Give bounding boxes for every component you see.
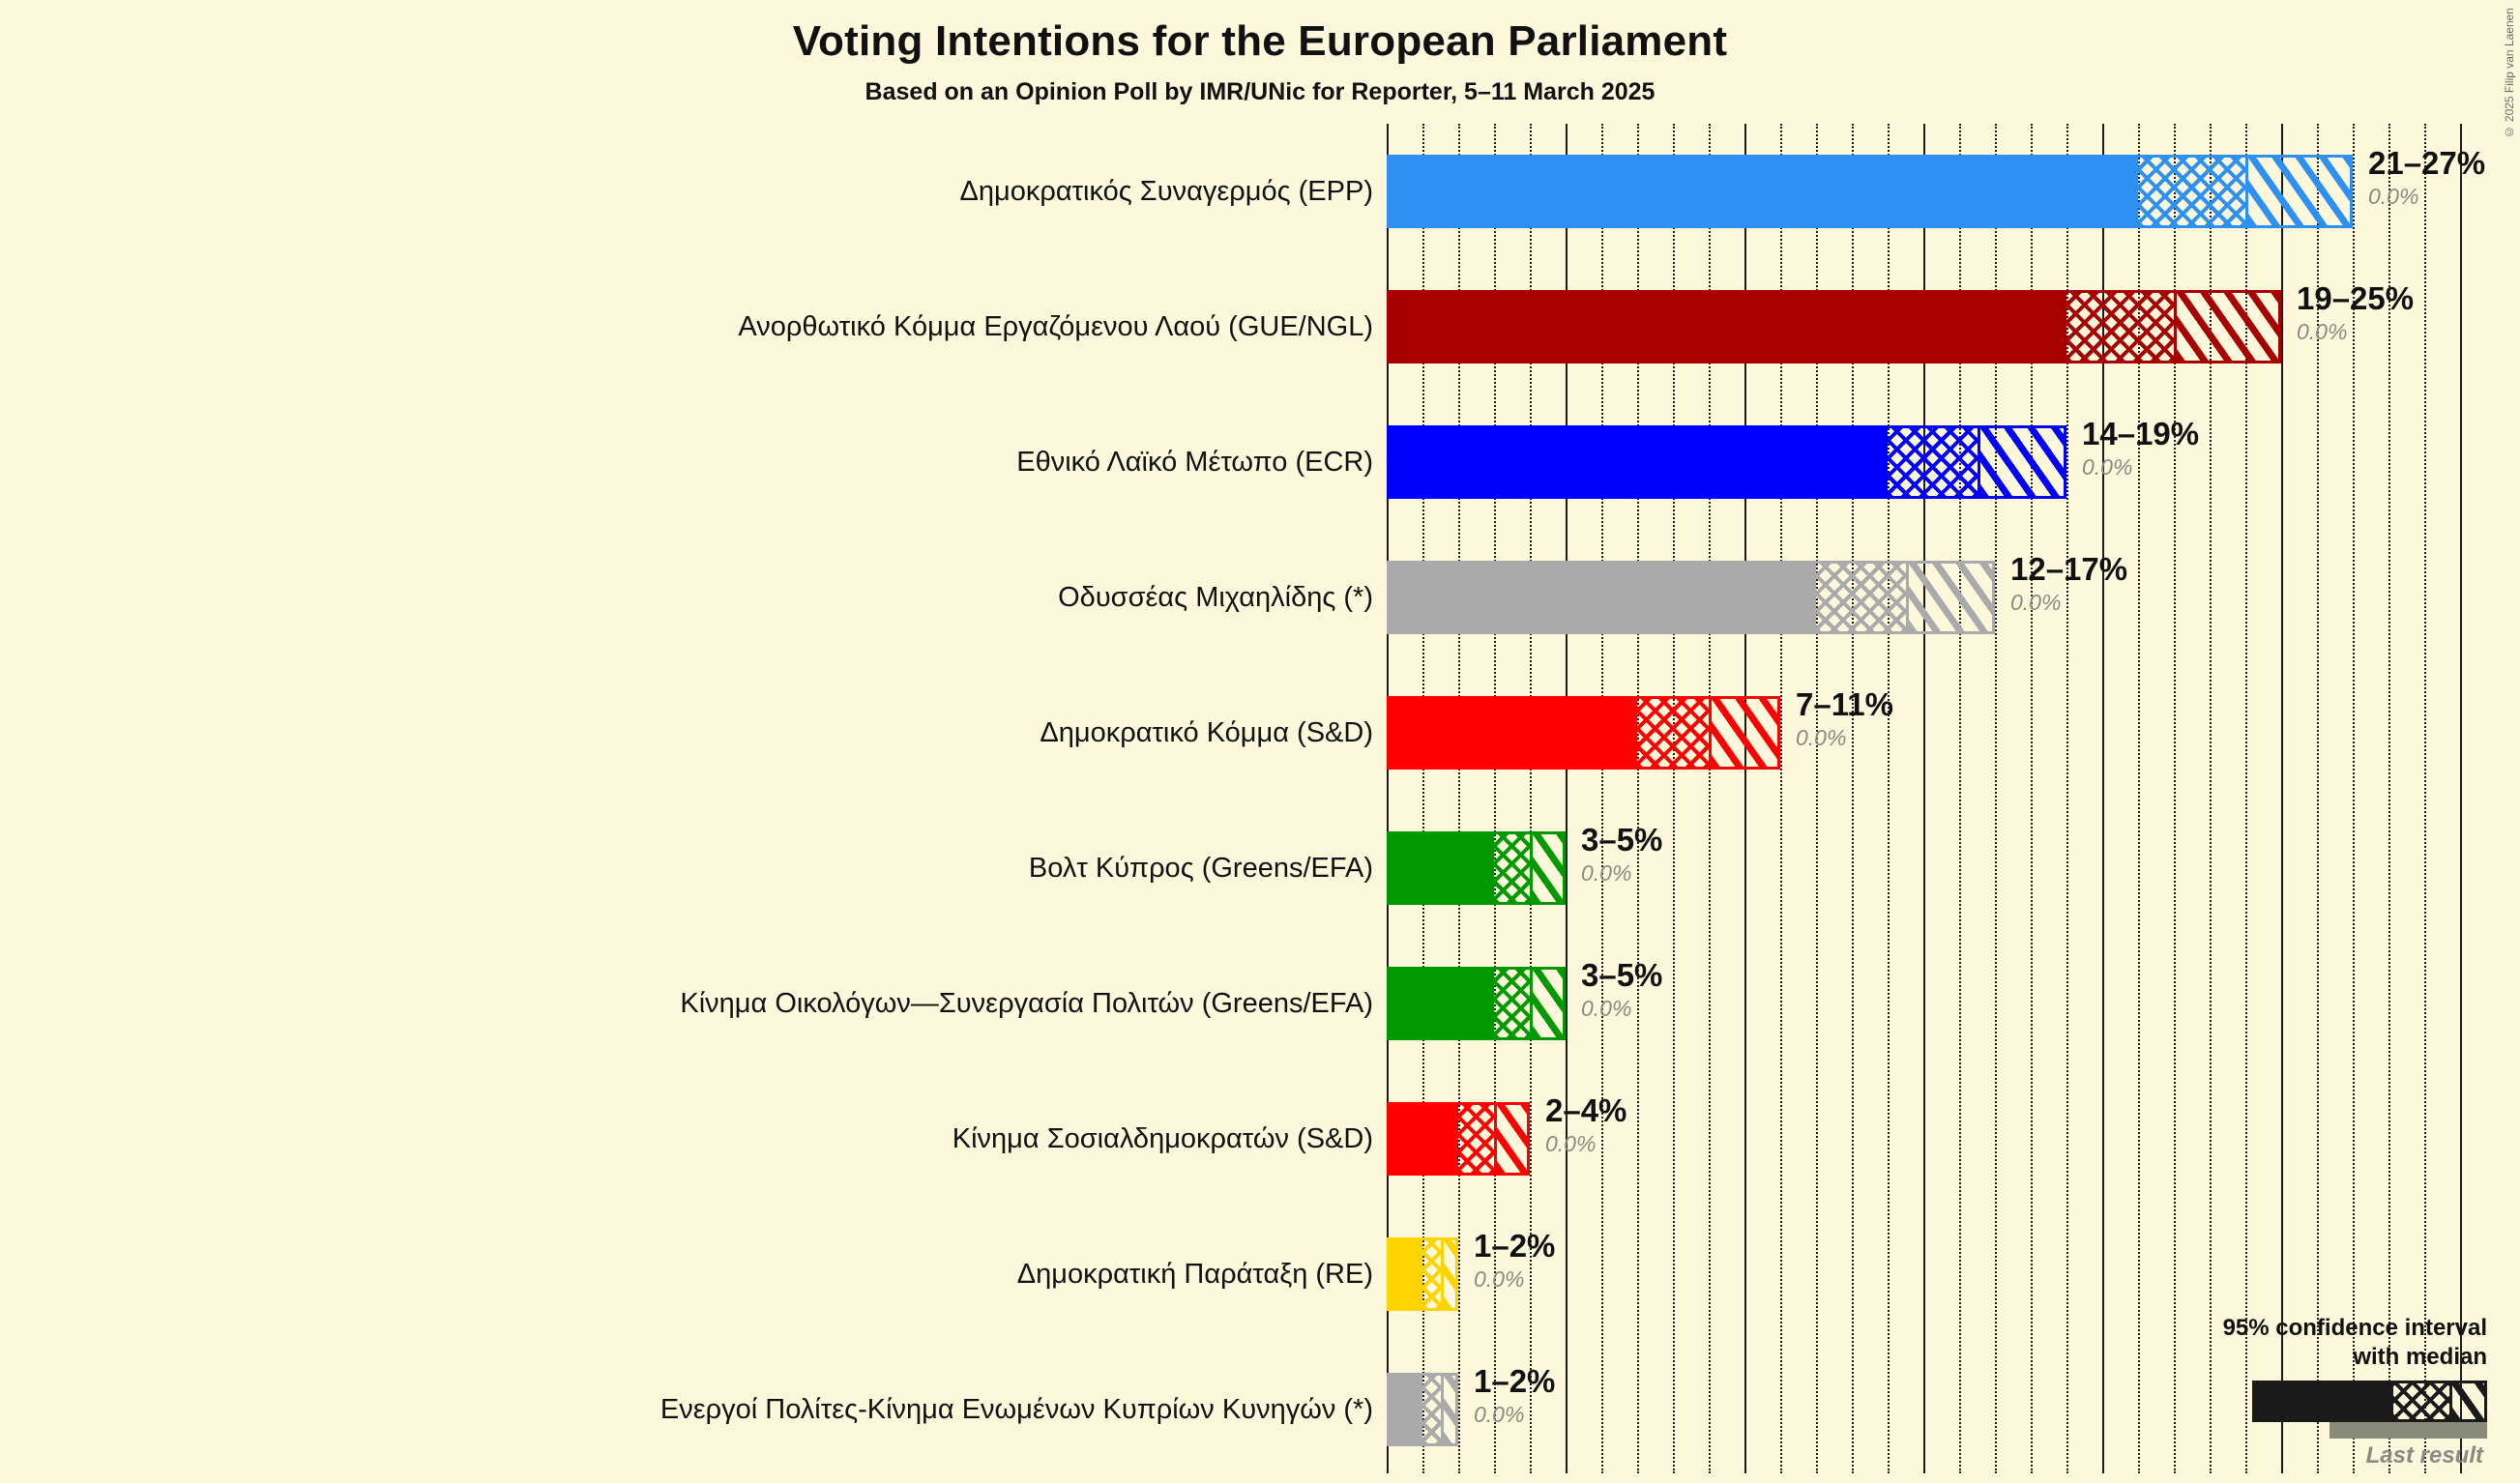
last-result-value: 0.0% xyxy=(1581,997,1662,1020)
last-result-value: 0.0% xyxy=(1796,726,1893,749)
confidence-interval-value: 2–4% xyxy=(1545,1094,1626,1128)
bar-segment-crosshatch xyxy=(2066,290,2174,363)
confidence-interval-value: 14–19% xyxy=(2082,418,2199,451)
bar-segment-diagonal xyxy=(1978,425,2067,499)
party-label: Δημοκρατικός Συναγερμός (EPP) xyxy=(960,124,1374,259)
confidence-interval-value: 3–5% xyxy=(1581,824,1662,858)
confidence-interval-bar[interactable] xyxy=(1387,1237,1458,1311)
confidence-interval-bar[interactable] xyxy=(1387,967,1566,1040)
party-label: Βολτ Κύπρος (Greens/EFA) xyxy=(1029,800,1373,936)
bar-segment-crosshatch xyxy=(1458,1102,1494,1176)
bar-segment-solid xyxy=(1387,831,1494,905)
table-row[interactable]: Ανορθωτικό Κόμμα Εργαζόμενου Λαού (GUE/N… xyxy=(0,259,2520,394)
value-label-group: 21–27%0.0% xyxy=(2368,147,2485,208)
value-label-group: 14–19%0.0% xyxy=(2082,418,2199,479)
value-label-group: 12–17%0.0% xyxy=(2010,553,2127,614)
legend-segment-solid xyxy=(2252,1381,2393,1422)
last-result-value: 0.0% xyxy=(2082,455,2199,479)
table-row[interactable]: Οδυσσέας Μιχαηλίδης (*)12–17%0.0% xyxy=(0,530,2520,665)
bar-segment-solid xyxy=(1387,967,1494,1040)
bar-segment-diagonal xyxy=(1530,967,1566,1040)
confidence-interval-bar[interactable] xyxy=(1387,1373,1458,1446)
bar-segment-diagonal xyxy=(1709,696,1780,770)
last-result-value: 0.0% xyxy=(1581,861,1662,885)
confidence-interval-value: 1–2% xyxy=(1474,1230,1555,1264)
value-label-group: 1–2%0.0% xyxy=(1474,1230,1555,1291)
legend-last-result-label: Last result xyxy=(1984,1442,2487,1469)
confidence-interval-value: 19–25% xyxy=(2297,282,2414,316)
bar-segment-diagonal xyxy=(2174,290,2281,363)
value-label-group: 3–5%0.0% xyxy=(1581,824,1662,885)
bar-segment-solid xyxy=(1387,1102,1458,1176)
bar-segment-solid xyxy=(1387,1373,1422,1446)
table-row[interactable]: Κίνημα Οικολόγων—Συνεργασία Πολιτών (Gre… xyxy=(0,936,2520,1071)
last-result-value: 0.0% xyxy=(2368,185,2485,208)
value-label-group: 2–4%0.0% xyxy=(1545,1094,1626,1155)
confidence-interval-value: 3–5% xyxy=(1581,959,1662,993)
bar-segment-solid xyxy=(1387,425,1888,499)
table-row[interactable]: Κίνημα Σοσιαλδημοκρατών (S&D)2–4%0.0% xyxy=(0,1071,2520,1207)
page-title: Voting Intentions for the European Parli… xyxy=(0,17,2520,66)
party-label: Δημοκρατική Παράταξη (RE) xyxy=(1017,1207,1373,1342)
confidence-interval-bar[interactable] xyxy=(1387,1102,1530,1176)
bar-segment-solid xyxy=(1387,155,2138,228)
value-label-group: 7–11%0.0% xyxy=(1796,688,1893,749)
bar-segment-solid xyxy=(1387,290,2066,363)
legend-last-result-bar xyxy=(2330,1422,2487,1439)
bar-segment-diagonal xyxy=(1494,1102,1530,1176)
bar-segment-crosshatch xyxy=(1422,1237,1441,1311)
bar-segment-solid xyxy=(1387,696,1637,770)
confidence-interval-value: 12–17% xyxy=(2010,553,2127,587)
table-row[interactable]: Βολτ Κύπρος (Greens/EFA)3–5%0.0% xyxy=(0,800,2520,936)
legend-line-1: 95% confidence interval xyxy=(1984,1314,2487,1342)
legend-segment-crosshatch xyxy=(2393,1381,2449,1422)
table-row[interactable]: Εθνικό Λαϊκό Μέτωπο (ECR)14–19%0.0% xyxy=(0,394,2520,530)
confidence-interval-bar[interactable] xyxy=(1387,290,2281,363)
confidence-interval-value: 21–27% xyxy=(2368,147,2485,181)
party-label: Κίνημα Σοσιαλδημοκρατών (S&D) xyxy=(952,1071,1373,1207)
bar-segment-solid xyxy=(1387,1237,1422,1311)
bar-segment-crosshatch xyxy=(1637,696,1709,770)
party-label: Εθνικό Λαϊκό Μέτωπο (ECR) xyxy=(1016,394,1373,530)
table-row[interactable]: Δημοκρατικό Κόμμα (S&D)7–11%0.0% xyxy=(0,665,2520,800)
bar-segment-crosshatch xyxy=(1816,561,1906,634)
party-label: Κίνημα Οικολόγων—Συνεργασία Πολιτών (Gre… xyxy=(680,936,1373,1071)
bar-segment-solid xyxy=(1387,561,1816,634)
value-label-group: 19–25%0.0% xyxy=(2297,282,2414,343)
bar-segment-crosshatch xyxy=(1494,831,1530,905)
last-result-value: 0.0% xyxy=(2010,591,2127,614)
last-result-value: 0.0% xyxy=(2297,320,2414,343)
party-label: Ενεργοί Πολίτες-Κίνημα Ενωμένων Κυπρίων … xyxy=(660,1342,1373,1477)
chart-subtitle: Based on an Opinion Poll by IMR/UNic for… xyxy=(0,78,2520,106)
legend: 95% confidence interval with median Last… xyxy=(1984,1314,2487,1469)
legend-segment-diagonal xyxy=(2449,1381,2487,1422)
last-result-value: 0.0% xyxy=(1474,1267,1555,1291)
confidence-interval-value: 1–2% xyxy=(1474,1365,1555,1399)
party-label: Δημοκρατικό Κόμμα (S&D) xyxy=(1040,665,1373,800)
confidence-interval-bar[interactable] xyxy=(1387,831,1566,905)
bar-segment-crosshatch xyxy=(1494,967,1530,1040)
value-label-group: 1–2%0.0% xyxy=(1474,1365,1555,1426)
confidence-interval-bar[interactable] xyxy=(1387,425,2066,499)
bar-segment-diagonal xyxy=(2245,155,2353,228)
copyright-notice: © 2025 Filip van Laenen xyxy=(2503,8,2516,138)
party-label: Οδυσσέας Μιχαηλίδης (*) xyxy=(1058,530,1373,665)
bar-segment-diagonal xyxy=(1530,831,1566,905)
confidence-interval-bar[interactable] xyxy=(1387,155,2353,228)
legend-line-2: with median xyxy=(1984,1343,2487,1371)
bar-segment-crosshatch xyxy=(1888,425,1978,499)
chart-root: Voting Intentions for the European Parli… xyxy=(0,0,2520,1483)
confidence-interval-value: 7–11% xyxy=(1796,688,1893,722)
party-label: Ανορθωτικό Κόμμα Εργαζόμενου Λαού (GUE/N… xyxy=(738,259,1373,394)
value-label-group: 3–5%0.0% xyxy=(1581,959,1662,1020)
confidence-interval-bar[interactable] xyxy=(1387,696,1780,770)
bar-segment-diagonal xyxy=(1441,1237,1459,1311)
legend-ci-bar xyxy=(2252,1381,2487,1422)
table-row[interactable]: Δημοκρατικός Συναγερμός (EPP)21–27%0.0% xyxy=(0,124,2520,259)
bar-segment-diagonal xyxy=(1906,561,1996,634)
bar-segment-crosshatch xyxy=(1422,1373,1441,1446)
confidence-interval-bar[interactable] xyxy=(1387,561,1995,634)
last-result-value: 0.0% xyxy=(1474,1403,1555,1426)
bar-segment-crosshatch xyxy=(2138,155,2245,228)
last-result-value: 0.0% xyxy=(1545,1132,1626,1155)
bar-segment-diagonal xyxy=(1441,1373,1459,1446)
